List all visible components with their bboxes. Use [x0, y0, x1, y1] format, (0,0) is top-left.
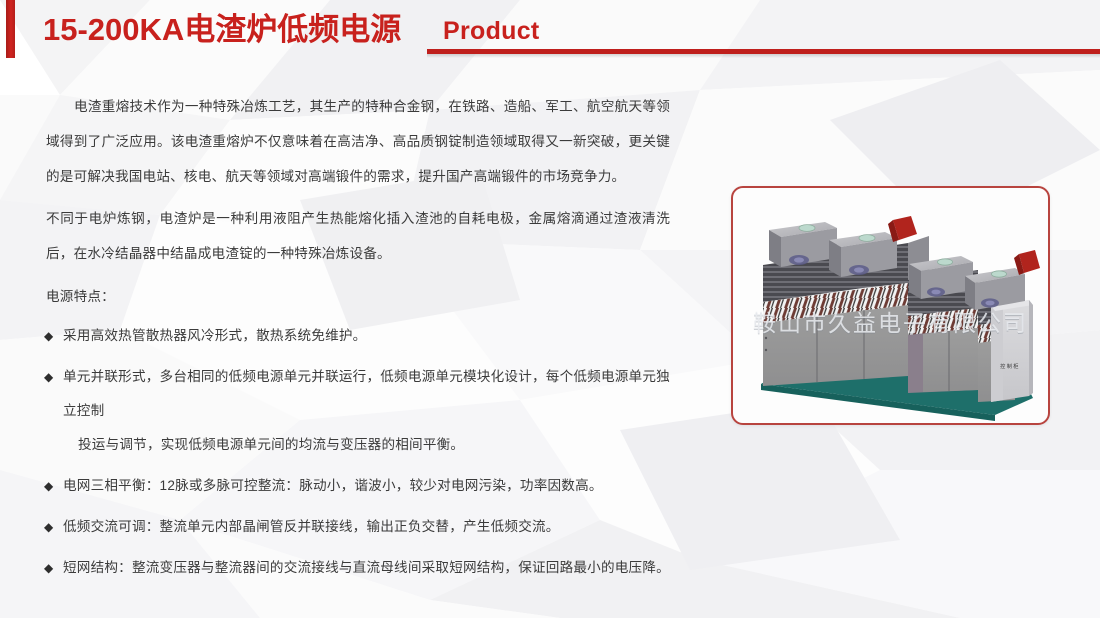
page-header: 15-200KA电渣炉低频电源 Product [0, 0, 1100, 70]
diamond-bullet-icon: ◆ [44, 319, 53, 353]
intro-paragraph-1: 电渣重熔技术作为一种特殊冶炼工艺，其生产的特种合金钢，在铁路、造船、军工、航空航… [0, 89, 700, 194]
content-column: 电渣重熔技术作为一种特殊冶炼工艺，其生产的特种合金钢，在铁路、造船、军工、航空航… [0, 70, 700, 585]
list-item: ◆ 低频交流可调：整流单元内部晶闸管反并联接线，输出正负交替，产生低频交流。 [0, 510, 700, 544]
feature-text: 电网三相平衡：12脉或多脉可控整流：脉动小，谐波小，较少对电网污染，功率因数高。 [46, 469, 670, 503]
features-heading: 电源特点： [0, 282, 700, 312]
diamond-bullet-icon: ◆ [44, 469, 53, 503]
title-underline-shadow [427, 54, 1100, 58]
page-title-cn: 15-200KA电渣炉低频电源 [43, 10, 401, 50]
product-image-card: 控制柜 [731, 186, 1050, 425]
list-item: ◆ 单元并联形式，多台相同的低频电源单元并联运行，低频电源单元模块化设计，每个低… [0, 360, 700, 462]
feature-text: 短网结构：整流变压器与整流器间的交流接线与直流母线间采取短网结构，保证回路最小的… [46, 551, 670, 585]
page-title-en: Product [443, 14, 540, 48]
diamond-bullet-icon: ◆ [44, 510, 53, 544]
diamond-bullet-icon: ◆ [44, 360, 53, 394]
feature-text: 单元并联形式，多台相同的低频电源单元并联运行，低频电源单元模块化设计，每个低频电… [46, 360, 670, 428]
feature-text-continued: 投运与调节，实现低频电源单元间的均流与变压器的相间平衡。 [63, 428, 670, 462]
product-cabinets-render: 控制柜 [733, 188, 1048, 423]
intro-paragraph-2: 不同于电炉炼钢，电渣炉是一种利用液阻产生热能熔化插入渣池的自耗电极，金属熔滴通过… [0, 201, 700, 271]
list-item: ◆ 短网结构：整流变压器与整流器间的交流接线与直流母线间采取短网结构，保证回路最… [0, 551, 700, 585]
features-list: ◆ 采用高效热管散热器风冷形式，散热系统免维护。 ◆ 单元并联形式，多台相同的低… [0, 319, 700, 585]
feature-text: 采用高效热管散热器风冷形式，散热系统免维护。 [46, 319, 670, 353]
diamond-bullet-icon: ◆ [44, 551, 53, 585]
list-item: ◆ 采用高效热管散热器风冷形式，散热系统免维护。 [0, 319, 700, 353]
feature-text: 低频交流可调：整流单元内部晶闸管反并联接线，输出正负交替，产生低频交流。 [46, 510, 670, 544]
header-accent-bar [6, 0, 15, 58]
list-item: ◆ 电网三相平衡：12脉或多脉可控整流：脉动小，谐波小，较少对电网污染，功率因数… [0, 469, 700, 503]
cabinet-label: 控制柜 [1000, 362, 1020, 370]
